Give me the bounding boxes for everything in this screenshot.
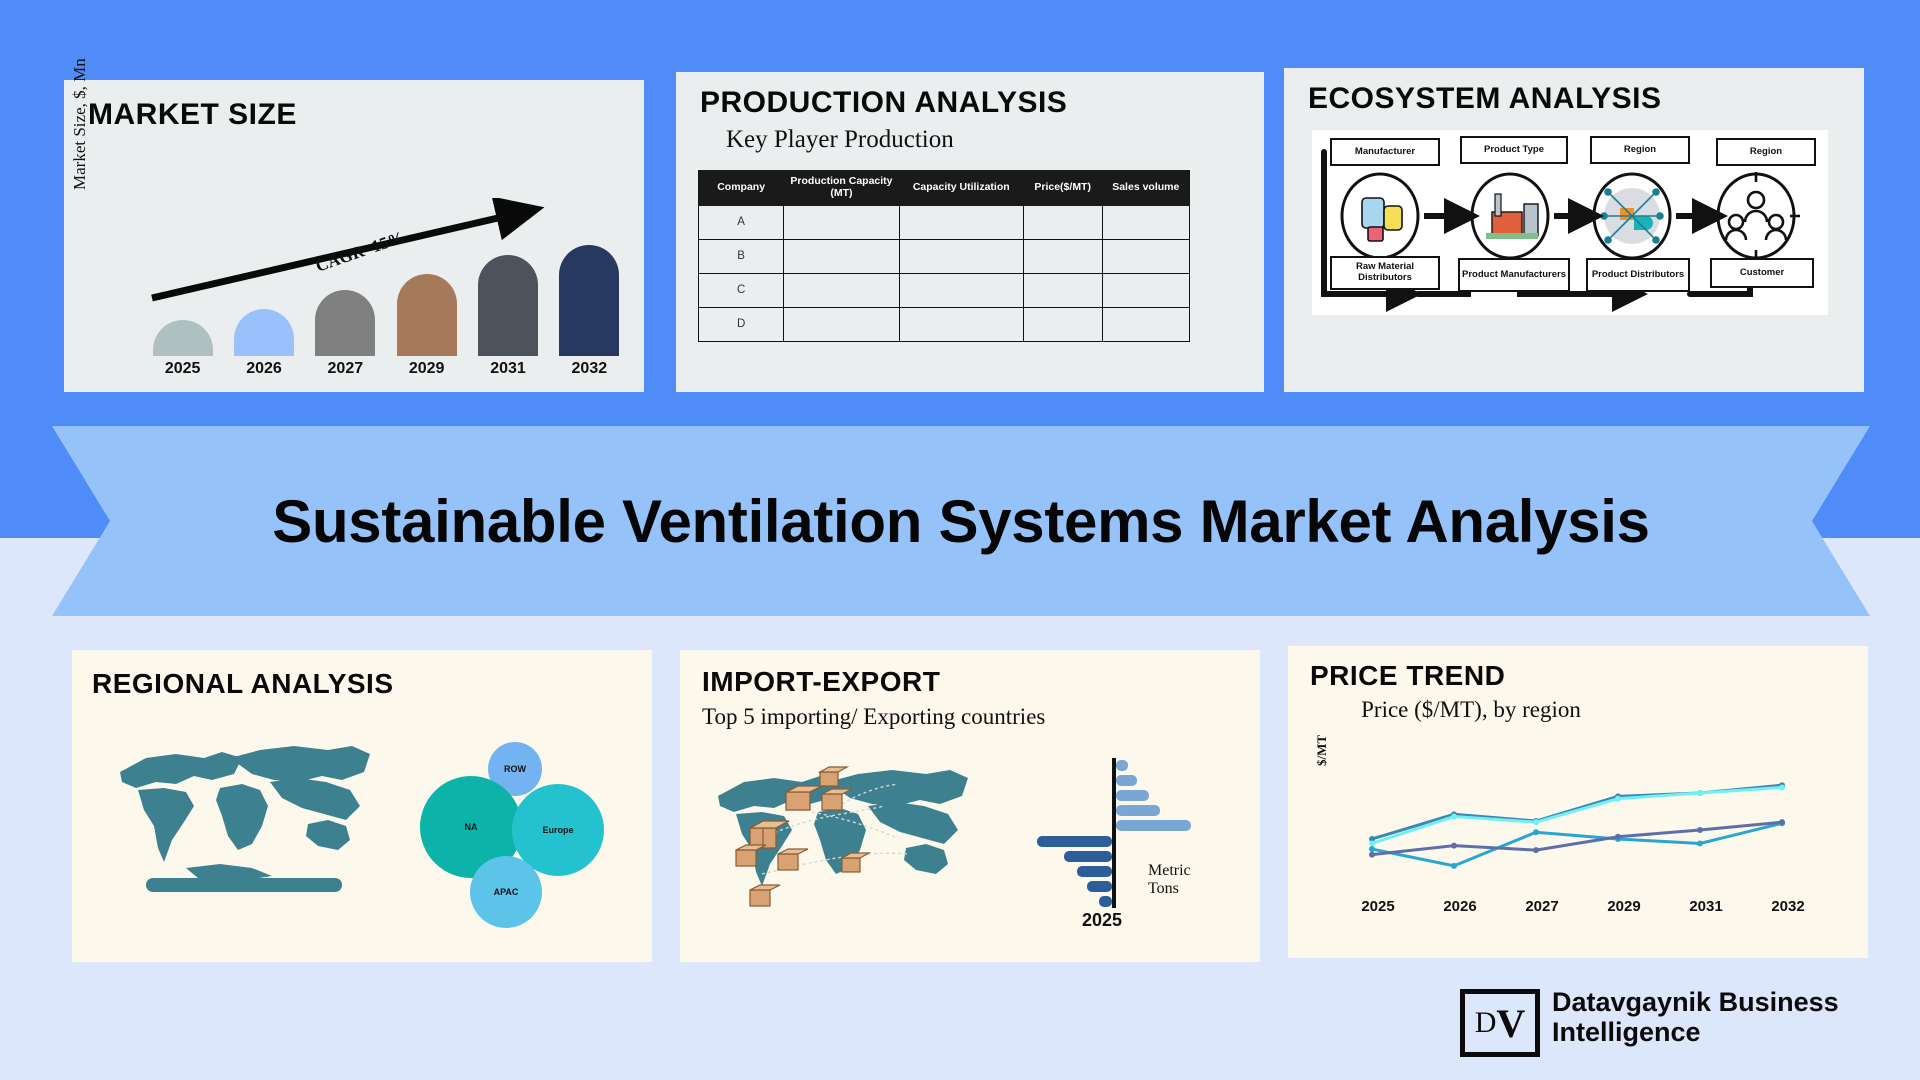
price-trend-subtitle: Price ($/MT), by region	[1346, 696, 1596, 724]
market-size-bar	[397, 274, 457, 356]
tornado-bar-export	[1087, 881, 1112, 892]
table-cell	[784, 273, 899, 307]
price-trend-panel: PRICE TREND Price ($/MT), by region $/MT…	[1288, 646, 1868, 958]
ecosystem-title: ECOSYSTEM ANALYSIS	[1308, 82, 1662, 116]
bubble-label-apac: APAC	[494, 887, 519, 897]
table-header-cell: Production Capacity (MT)	[784, 171, 899, 206]
market-size-title: MARKET SIZE	[88, 98, 297, 132]
main-title: Sustainable Ventilation Systems Market A…	[52, 426, 1870, 616]
trade-route-map-icon	[702, 754, 1002, 934]
tornado-bar-export	[1037, 836, 1112, 847]
table-row: C	[699, 273, 1190, 307]
world-map-icon	[102, 728, 402, 908]
production-title: PRODUCTION ANALYSIS	[700, 86, 1067, 120]
market-size-x-tick: 2032	[553, 360, 625, 378]
market-size-bar	[315, 290, 375, 356]
market-size-x-tick: 2029	[391, 360, 463, 378]
market-size-x-tick: 2031	[472, 360, 544, 378]
bubble-label-row: ROW	[504, 764, 526, 774]
tornado-bar-import	[1116, 775, 1137, 786]
market-size-x-tick: 2025	[147, 360, 219, 378]
price-trend-point	[1533, 819, 1539, 825]
table-cell	[899, 205, 1023, 239]
price-trend-point	[1451, 814, 1457, 820]
market-size-x-tick: 2026	[228, 360, 300, 378]
price-trend-point	[1369, 846, 1375, 852]
tornado-axis-unit-label: Metric Tons	[1148, 862, 1218, 898]
bubble-label-europe: Europe	[542, 825, 573, 835]
tornado-bar-import	[1116, 805, 1160, 816]
table-cell	[1023, 205, 1102, 239]
market-size-bar	[478, 255, 538, 356]
price-trend-x-tick: 2027	[1502, 898, 1582, 915]
table-row: A	[699, 205, 1190, 239]
table-header-cell: Price($/MT)	[1023, 171, 1102, 206]
table-cell: D	[699, 307, 784, 341]
table-cell: B	[699, 239, 784, 273]
market-size-plot-area	[142, 230, 630, 356]
price-trend-point	[1615, 834, 1621, 840]
market-size-x-axis: 202520262027202920312032	[142, 360, 630, 386]
table-cell	[1023, 273, 1102, 307]
ecosystem-top-label-2: Region	[1590, 136, 1690, 164]
table-cell	[1023, 307, 1102, 341]
market-size-bar	[153, 320, 213, 356]
table-cell	[1102, 273, 1189, 307]
regional-analysis-panel: REGIONAL ANALYSIS ROW NA Europe APAC	[72, 650, 652, 962]
table-cell	[899, 239, 1023, 273]
market-size-x-tick: 2027	[309, 360, 381, 378]
price-trend-point	[1369, 840, 1375, 846]
price-trend-y-axis-label: $/MT	[1314, 735, 1330, 766]
table-cell	[1102, 205, 1189, 239]
table-cell	[784, 307, 899, 341]
ecosystem-bottom-label-1: Product Manufacturers	[1458, 258, 1570, 292]
ecosystem-top-label-0: Manufacturer	[1330, 138, 1440, 166]
table-cell	[784, 205, 899, 239]
import-export-title: IMPORT-EXPORT	[702, 666, 940, 698]
key-player-production-table: CompanyProduction Capacity (MT)Capacity …	[698, 170, 1190, 342]
price-trend-x-tick: 2032	[1748, 898, 1828, 915]
table-header-cell: Sales volume	[1102, 171, 1189, 206]
price-trend-line	[1372, 785, 1782, 839]
price-trend-x-axis: 202520262027202920312032	[1326, 898, 1846, 922]
price-trend-line-svg	[1342, 758, 1822, 898]
logo-letter-v: V	[1496, 1000, 1525, 1047]
tornado-year-label: 2025	[1082, 910, 1122, 931]
table-header-cell: Capacity Utilization	[899, 171, 1023, 206]
banner-ribbon: Sustainable Ventilation Systems Market A…	[52, 426, 1870, 616]
market-size-y-axis-label: Market Size, $, Mn	[70, 58, 90, 190]
price-trend-x-tick: 2029	[1584, 898, 1664, 915]
customer-group-icon	[1718, 174, 1794, 258]
import-export-panel: IMPORT-EXPORT Top 5 importing/ Exporting…	[680, 650, 1260, 962]
table-cell	[1102, 239, 1189, 273]
ecosystem-top-label-1: Product Type	[1460, 136, 1568, 164]
market-size-bar	[234, 309, 294, 356]
tornado-bar-export	[1099, 896, 1112, 907]
table-header-cell: Company	[699, 171, 784, 206]
logo-mark-icon: DV	[1460, 989, 1540, 1057]
logo-company-name: Datavgaynik Business Intelligence	[1552, 987, 1882, 1047]
ecosystem-flow-diagram: ManufacturerProduct TypeRegionRegionRaw …	[1312, 130, 1828, 315]
price-trend-point	[1369, 852, 1375, 858]
table-row: D	[699, 307, 1190, 341]
bubble-label-na: NA	[465, 822, 478, 832]
table-row: B	[699, 239, 1190, 273]
tornado-bar-export	[1064, 851, 1112, 862]
tornado-bar-export	[1077, 866, 1112, 877]
regional-title: REGIONAL ANALYSIS	[92, 668, 394, 700]
tornado-bar-import	[1116, 760, 1128, 771]
ecosystem-bottom-label-0: Raw Material Distributors	[1330, 256, 1440, 290]
price-trend-point	[1451, 863, 1457, 869]
table-cell	[899, 273, 1023, 307]
import-export-tornado-chart: Metric Tons 2025	[1028, 758, 1218, 938]
company-logo: DV Datavgaynik Business Intelligence	[1460, 985, 1880, 1065]
price-trend-point	[1697, 827, 1703, 833]
price-trend-point	[1615, 796, 1621, 802]
price-trend-point	[1533, 829, 1539, 835]
production-subtitle: Key Player Production	[726, 126, 954, 154]
table-cell	[1023, 239, 1102, 273]
price-trend-x-tick: 2025	[1338, 898, 1418, 915]
table-cell	[899, 307, 1023, 341]
price-trend-point	[1533, 847, 1539, 853]
price-trend-x-tick: 2031	[1666, 898, 1746, 915]
ecosystem-analysis-panel: ECOSYSTEM ANALYSIS	[1284, 68, 1864, 392]
price-trend-title: PRICE TREND	[1310, 660, 1505, 692]
tornado-bar-import	[1116, 790, 1149, 801]
price-trend-point	[1779, 784, 1785, 790]
market-size-bar	[559, 245, 619, 356]
ecosystem-bottom-label-2: Product Distributors	[1586, 258, 1690, 292]
price-trend-point	[1697, 790, 1703, 796]
tornado-bar-import	[1116, 820, 1191, 831]
import-export-subtitle: Top 5 importing/ Exporting countries	[702, 704, 1045, 730]
table-cell	[1102, 307, 1189, 341]
production-analysis-panel: PRODUCTION ANALYSIS Key Player Productio…	[676, 72, 1264, 392]
ecosystem-top-label-3: Region	[1716, 138, 1816, 166]
price-trend-x-tick: 2026	[1420, 898, 1500, 915]
logo-letter-d: D	[1475, 1006, 1497, 1040]
price-trend-point	[1697, 840, 1703, 846]
price-trend-point	[1779, 819, 1785, 825]
market-size-panel: MARKET SIZE Market Size, $, Mn CAGR~15% …	[64, 80, 644, 392]
bubble-apac[interactable]: APAC	[470, 856, 542, 928]
price-trend-point	[1451, 843, 1457, 849]
table-cell: C	[699, 273, 784, 307]
table-cell	[784, 239, 899, 273]
ecosystem-bottom-label-3: Customer	[1710, 258, 1814, 288]
table-header-row: CompanyProduction Capacity (MT)Capacity …	[699, 171, 1190, 206]
table-cell: A	[699, 205, 784, 239]
